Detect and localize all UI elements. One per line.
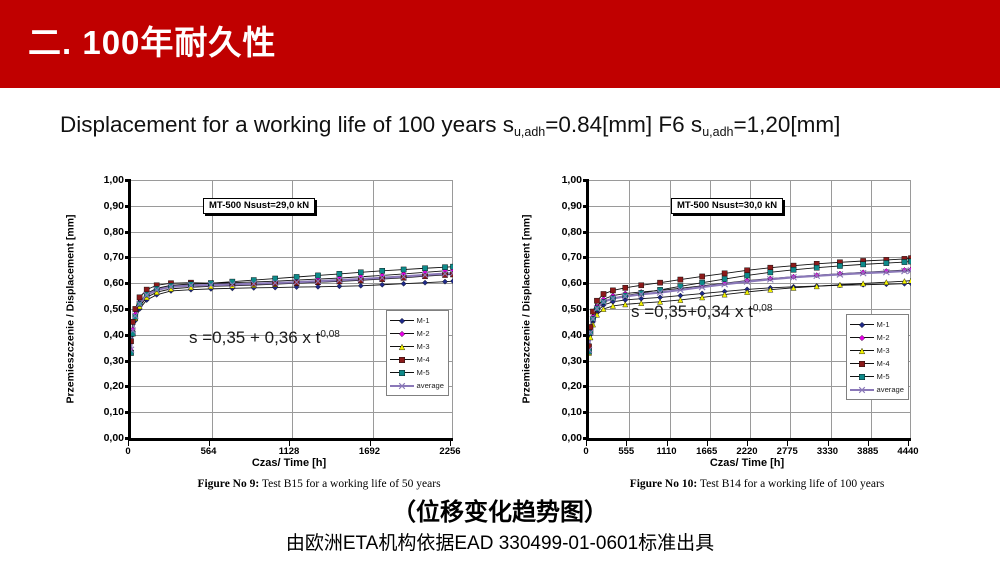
legend-item[interactable]: M-5 [390, 366, 444, 379]
y-tick-label: 0,90 [562, 200, 582, 212]
y-tick-label: 0,40 [562, 329, 582, 341]
legend-swatch [850, 385, 874, 395]
legend-label: M-4 [877, 359, 890, 368]
legend-label: M-4 [417, 355, 430, 364]
subtitle-mid: =0.84[mm] F6 s [545, 112, 702, 137]
legend-label: average [417, 381, 444, 390]
chart-left-yticks: 0,000,100,200,300,400,500,600,700,800,90… [84, 180, 128, 438]
x-tick-label: 564 [201, 446, 217, 457]
subtitle-line: Displacement for a working life of 100 y… [60, 112, 960, 138]
chart-right-caption-bold: Figure No 10: [630, 478, 698, 490]
x-tick-label: 2775 [777, 446, 798, 457]
chart-legend: M-1M-2M-3M-4M-5average [386, 310, 449, 396]
y-tick-label: 0,20 [562, 380, 582, 392]
chart-left-caption: Figure No 9: Test B15 for a working life… [128, 478, 510, 490]
y-tick-label: 0,20 [104, 380, 124, 392]
y-tick-label: 0,30 [562, 355, 582, 367]
chart-equation-base: s =0,35 + 0,36 x t [189, 328, 320, 347]
chart-left-plot-area: MT-500 Nsust=29,0 kNs =0,35 + 0,36 x t0,… [128, 180, 453, 441]
x-tick-label: 555 [618, 446, 634, 457]
chart-right-caption-rest: Test B14 for a working life of 100 years [697, 478, 884, 490]
chart-legend: M-1M-2M-3M-4M-5average [846, 314, 909, 400]
x-tick-label: 1692 [359, 446, 380, 457]
legend-swatch [390, 329, 414, 339]
legend-label: average [877, 385, 904, 394]
legend-marker-icon [857, 372, 867, 382]
legend-swatch [850, 333, 874, 343]
y-tick-label: 0,70 [104, 251, 124, 263]
legend-swatch [390, 381, 414, 391]
page-title: 二. 100年耐久性 [28, 20, 276, 66]
subtitle-sub-2: u,adh [702, 125, 733, 139]
x-tick-label: 0 [583, 446, 588, 457]
legend-swatch [850, 359, 874, 369]
legend-item[interactable]: M-1 [850, 318, 904, 331]
legend-marker-icon [857, 385, 867, 395]
legend-item[interactable]: M-4 [390, 353, 444, 366]
y-tick-label: 0,10 [104, 406, 124, 418]
legend-label: M-5 [417, 368, 430, 377]
chart-left-caption-rest: Test B15 for a working life of 50 years [259, 478, 440, 490]
legend-item[interactable]: M-4 [850, 357, 904, 370]
legend-marker-icon [857, 333, 867, 343]
chart-equation-exponent: 0,08 [320, 329, 339, 340]
legend-marker-icon [397, 329, 407, 339]
x-tick-label: 1128 [279, 446, 300, 457]
legend-item[interactable]: average [390, 379, 444, 392]
chart-right-xlabel: Czas/ Time [h] [586, 457, 908, 469]
legend-marker-icon [857, 359, 867, 369]
chart-right-ylabel: Przemieszczenie / Displacement [mm] [518, 180, 536, 438]
chart-equation-exponent: 0,08 [753, 303, 772, 314]
legend-label: M-2 [417, 329, 430, 338]
chart-annotation-box: MT-500 Nsust=29,0 kN [203, 198, 315, 214]
chart-right-ylabel-text: Przemieszczenie / Displacement [mm] [521, 214, 533, 403]
chart-left-caption-bold: Figure No 9: [197, 478, 259, 490]
legend-label: M-1 [877, 320, 890, 329]
subtitle-pre: Displacement for a working life of 100 y… [60, 112, 514, 137]
x-tick-label: 1665 [696, 446, 717, 457]
chart-series-layer [131, 180, 453, 438]
footer-heading: （位移变化趋势图） [0, 492, 1000, 527]
y-tick-label: 0,00 [562, 432, 582, 444]
y-tick-label: 0,80 [562, 226, 582, 238]
legend-swatch [390, 316, 414, 326]
legend-item[interactable]: average [850, 383, 904, 396]
x-tick-label: 2256 [439, 446, 460, 457]
legend-swatch [850, 320, 874, 330]
subtitle-post: =1,20[mm] [733, 112, 840, 137]
x-tick-label: 1110 [656, 446, 676, 457]
y-tick-label: 1,00 [104, 174, 124, 186]
y-tick-label: 0,10 [562, 406, 582, 418]
x-tick-label: 3885 [857, 446, 878, 457]
chart-right-caption: Figure No 10: Test B14 for a working lif… [566, 478, 948, 490]
y-tick-label: 0,50 [104, 303, 124, 315]
chart-equation: s =0,35 + 0,36 x t0,08 [189, 328, 340, 348]
chart-right-yticks: 0,000,100,200,300,400,500,600,700,800,90… [542, 180, 586, 438]
legend-item[interactable]: M-2 [850, 331, 904, 344]
legend-swatch [390, 368, 414, 378]
legend-swatch [850, 346, 874, 356]
chart-left-ylabel-text: Przemieszczenie / Displacement [mm] [65, 214, 77, 403]
x-tick-label: 3330 [817, 446, 838, 457]
legend-label: M-2 [877, 333, 890, 342]
y-tick-label: 0,90 [104, 200, 124, 212]
x-tick-label: 0 [125, 446, 130, 457]
legend-item[interactable]: M-3 [850, 344, 904, 357]
legend-item[interactable]: M-1 [390, 314, 444, 327]
legend-label: M-1 [417, 316, 430, 325]
legend-swatch [850, 372, 874, 382]
subtitle-sub-1: u,adh [514, 125, 545, 139]
legend-label: M-3 [877, 346, 890, 355]
legend-marker-icon [397, 368, 407, 378]
x-tick-label: 4440 [897, 446, 918, 457]
y-tick-label: 0,40 [104, 329, 124, 341]
legend-item[interactable]: M-5 [850, 370, 904, 383]
legend-marker-icon [397, 342, 407, 352]
y-tick-label: 0,00 [104, 432, 124, 444]
chart-equation-base: s =0,35+0,34 x t [631, 302, 753, 321]
header-band: 二. 100年耐久性 [0, 0, 1000, 88]
y-tick-label: 0,60 [104, 277, 124, 289]
legend-item[interactable]: M-2 [390, 327, 444, 340]
chart-left-xlabel: Czas/ Time [h] [128, 457, 450, 469]
legend-marker-icon [397, 355, 407, 365]
y-tick-label: 0,60 [562, 277, 582, 289]
legend-marker-icon [857, 346, 867, 356]
footer-subtext: 由欧洲ETA机构依据EAD 330499-01-0601标准出具 [0, 528, 1000, 555]
y-tick-label: 0,70 [562, 251, 582, 263]
chart-left-ylabel: Przemieszczenie / Displacement [mm] [62, 180, 80, 438]
slide-root: 二. 100年耐久性 Displacement for a working li… [0, 0, 1000, 563]
legend-swatch [390, 342, 414, 352]
x-tick-label: 2220 [736, 446, 757, 457]
legend-marker-icon [397, 381, 407, 391]
legend-marker-icon [857, 320, 867, 330]
chart-equation: s =0,35+0,34 x t0,08 [631, 302, 772, 322]
legend-swatch [390, 355, 414, 365]
legend-item[interactable]: M-3 [390, 340, 444, 353]
legend-label: M-5 [877, 372, 890, 381]
charts-row: Przemieszczenie / Displacement [mm] 0,00… [0, 165, 1000, 465]
legend-marker-icon [397, 316, 407, 326]
legend-label: M-3 [417, 342, 430, 351]
chart-right-plot-area: MT-500 Nsust=30,0 kNs =0,35+0,34 x t0,08… [586, 180, 911, 441]
y-tick-label: 1,00 [562, 174, 582, 186]
y-tick-label: 0,30 [104, 355, 124, 367]
y-tick-label: 0,50 [562, 303, 582, 315]
chart-annotation-box: MT-500 Nsust=30,0 kN [671, 198, 783, 214]
y-tick-label: 0,80 [104, 226, 124, 238]
